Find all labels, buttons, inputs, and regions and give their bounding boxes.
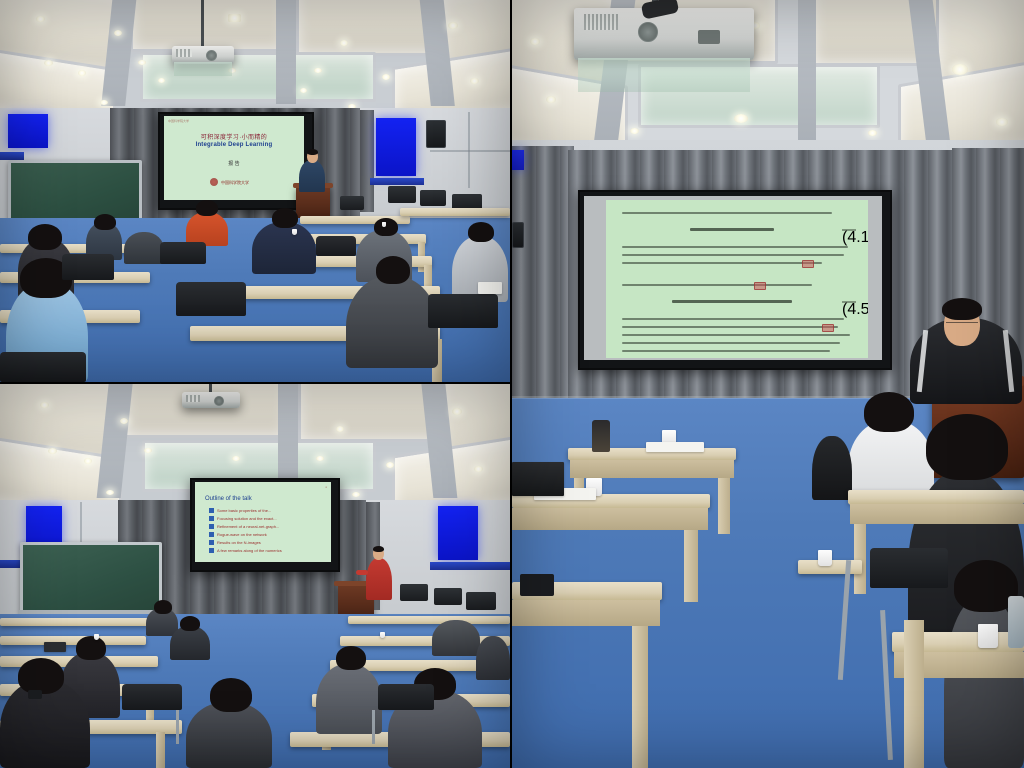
photo-collage: 中国科学院大学 可积深度学习·小而精的 Integrable Deep Lear… bbox=[0, 0, 1024, 768]
downlight bbox=[530, 38, 540, 45]
audience-member bbox=[812, 436, 852, 500]
ceiling-beam bbox=[276, 0, 296, 104]
desk-leg bbox=[684, 530, 698, 602]
wall-accent-strip bbox=[430, 562, 510, 570]
audience-hair bbox=[336, 646, 366, 670]
audience-member bbox=[252, 222, 316, 274]
university-name: 中国科学院大学 bbox=[221, 180, 249, 186]
desk-leg bbox=[156, 732, 165, 768]
water-bottle bbox=[1008, 596, 1024, 648]
slide-text-line bbox=[622, 284, 812, 286]
slide-equation bbox=[690, 228, 774, 231]
downlight bbox=[314, 68, 322, 73]
projector-glow bbox=[578, 58, 750, 92]
audience-hair bbox=[94, 214, 116, 230]
projector-mount-pole bbox=[201, 0, 204, 48]
thermos bbox=[592, 420, 610, 452]
wall-light-panel bbox=[8, 114, 48, 148]
projector-vent bbox=[186, 395, 200, 402]
chair bbox=[0, 352, 86, 382]
projection-slide-outline: ● Outline of the talk Some basic propert… bbox=[195, 482, 331, 562]
wall-accent-strip bbox=[0, 152, 24, 160]
projector-vent bbox=[584, 14, 618, 30]
presenter-arm bbox=[356, 570, 368, 575]
paper-cup bbox=[818, 550, 832, 566]
desk-leg bbox=[904, 620, 924, 768]
downlight bbox=[386, 462, 394, 468]
downlight bbox=[300, 88, 307, 93]
downlight bbox=[78, 70, 86, 76]
speaker bbox=[299, 160, 325, 192]
downlight bbox=[44, 60, 53, 66]
slide-text-line bbox=[622, 334, 850, 336]
audience-member bbox=[476, 636, 510, 680]
slide-corner-mark: ● bbox=[325, 485, 327, 489]
desk-monitor bbox=[400, 584, 428, 601]
desk-leg bbox=[854, 524, 866, 594]
audience-member bbox=[186, 212, 228, 246]
desk bbox=[0, 636, 146, 645]
audience-member bbox=[124, 232, 164, 264]
speaker-hair bbox=[942, 298, 982, 320]
downlight bbox=[158, 78, 165, 83]
desk-leg bbox=[718, 478, 730, 534]
laptop-bag bbox=[512, 462, 564, 496]
audience-hair bbox=[180, 616, 200, 631]
desk-front-panel bbox=[512, 600, 660, 626]
slide-text-line bbox=[622, 246, 848, 248]
desk-monitor bbox=[388, 186, 416, 203]
slide-text-line bbox=[622, 326, 838, 328]
audience-hair bbox=[374, 218, 398, 236]
chair-leg bbox=[176, 710, 179, 744]
slide-title-cn: 可积深度学习·小而精的 bbox=[164, 132, 304, 141]
ceiling-beam bbox=[798, 0, 816, 142]
paper-cup bbox=[380, 632, 385, 638]
chair bbox=[122, 684, 182, 710]
projection-slide-title: 中国科学院大学 可积深度学习·小而精的 Integrable Deep Lear… bbox=[164, 116, 304, 200]
downlight bbox=[630, 128, 639, 134]
paper-sheet bbox=[478, 282, 502, 294]
chair bbox=[176, 282, 246, 316]
desk-monitor bbox=[420, 190, 446, 206]
downlight bbox=[474, 466, 483, 472]
downlight bbox=[316, 456, 324, 461]
projector-lens bbox=[206, 50, 217, 61]
slide-heading: Outline of the talk bbox=[205, 496, 252, 502]
paper-cup bbox=[978, 624, 998, 648]
downlight bbox=[352, 492, 360, 497]
slide-bullet: A few remarks along of the numerics bbox=[209, 548, 282, 553]
downlight bbox=[470, 78, 479, 84]
slide-highlight-box bbox=[754, 282, 766, 290]
laptop bbox=[44, 642, 66, 652]
downlight bbox=[232, 456, 240, 461]
wall-speaker bbox=[426, 120, 446, 148]
downlight bbox=[138, 60, 146, 65]
speaker-hair bbox=[307, 149, 318, 155]
slide-speaker-name: 报 告 bbox=[164, 160, 304, 167]
downlight bbox=[336, 426, 344, 432]
audience-member bbox=[170, 626, 210, 660]
slide-bullet: Refinement of a neural-net-graph... bbox=[209, 524, 279, 529]
wall-light-panel bbox=[376, 118, 416, 176]
chair bbox=[62, 254, 114, 280]
paper-cup bbox=[292, 229, 297, 235]
downlight bbox=[40, 402, 49, 408]
projector-control-panel bbox=[698, 30, 720, 44]
audience-hair bbox=[28, 224, 62, 250]
slide-equation bbox=[672, 300, 792, 303]
slide-text-line bbox=[622, 254, 844, 256]
phone bbox=[520, 574, 554, 596]
downlight bbox=[382, 74, 390, 80]
chair bbox=[428, 294, 498, 328]
blackboard bbox=[20, 542, 162, 616]
collage-panel-bottom-left: ● Outline of the talk Some basic propert… bbox=[0, 384, 510, 768]
slide-text-line bbox=[622, 350, 830, 352]
audience-member bbox=[346, 276, 438, 368]
audience-member bbox=[432, 620, 480, 656]
downlight bbox=[868, 130, 877, 136]
collage-divider-vertical bbox=[510, 0, 512, 768]
downlight bbox=[144, 448, 152, 453]
desk-monitor bbox=[340, 196, 364, 210]
wall-seam bbox=[430, 150, 510, 152]
audience-hair bbox=[210, 678, 252, 712]
downlight bbox=[48, 448, 57, 454]
chair bbox=[378, 684, 434, 710]
desk-front-panel bbox=[850, 504, 1024, 524]
audience-hair bbox=[864, 392, 914, 432]
slide-bullet: Some basic properties of the... bbox=[209, 508, 271, 513]
desk bbox=[400, 208, 510, 216]
speaker-glasses-icon bbox=[946, 322, 978, 327]
downlight bbox=[996, 118, 1008, 126]
slide-highlight-box bbox=[822, 324, 834, 332]
slide-bullet: Results on the N-images bbox=[209, 540, 261, 545]
presenter-hair bbox=[373, 546, 384, 552]
university-logo-icon bbox=[210, 178, 218, 186]
downlight bbox=[340, 40, 348, 46]
chair bbox=[870, 548, 948, 588]
projector-lens bbox=[638, 22, 658, 42]
slide-text-line bbox=[622, 212, 832, 214]
paper-sheet bbox=[646, 442, 704, 452]
downlight bbox=[546, 96, 556, 103]
slide-title-en: Integrable Deep Learning bbox=[164, 142, 304, 148]
paper-cup bbox=[94, 634, 99, 640]
downlight bbox=[100, 100, 108, 105]
audience-hair bbox=[76, 636, 106, 660]
downlight bbox=[114, 30, 122, 36]
chair-leg bbox=[372, 710, 375, 744]
desk bbox=[0, 618, 150, 626]
downlight bbox=[84, 458, 92, 464]
slide-text-line bbox=[622, 342, 840, 344]
audience-hair bbox=[272, 208, 298, 228]
wall-light-panel bbox=[512, 150, 524, 170]
downlight bbox=[448, 22, 458, 29]
desk-front-panel bbox=[570, 460, 734, 478]
slide-equation-tag: (4.1) bbox=[842, 229, 856, 231]
paper-cup bbox=[382, 222, 386, 227]
slide-equation-tag: (4.5) bbox=[842, 301, 856, 303]
audience-hair bbox=[18, 658, 64, 694]
projector-glow bbox=[174, 62, 232, 76]
desk-leg bbox=[632, 626, 648, 768]
desk-front-panel bbox=[512, 508, 708, 530]
slide-bullet: Rogue-wave on the network bbox=[209, 532, 267, 537]
collage-divider-horizontal bbox=[0, 382, 510, 384]
audience-hair bbox=[926, 414, 1008, 480]
projector-vent bbox=[176, 49, 192, 57]
chair bbox=[160, 242, 206, 264]
audience-hair bbox=[196, 200, 218, 216]
wall-speaker bbox=[512, 222, 524, 248]
wall-seam bbox=[468, 112, 470, 188]
audience-hair bbox=[468, 222, 494, 242]
presenter bbox=[366, 558, 392, 600]
projector-lens bbox=[214, 396, 224, 406]
projection-slide-math-lower: (4.5) bbox=[606, 274, 868, 358]
desk-monitor bbox=[466, 592, 496, 610]
slide-text-line bbox=[622, 262, 822, 264]
downlight bbox=[106, 490, 114, 495]
downlight bbox=[120, 418, 128, 424]
downlight bbox=[452, 408, 462, 415]
downlight bbox=[36, 16, 45, 22]
desk bbox=[848, 490, 1024, 504]
slide-text-line bbox=[622, 318, 844, 320]
phone bbox=[28, 690, 42, 699]
collage-panel-right: (4.1) (4.2) (4.3) (4.4) (4.5) bbox=[512, 0, 1024, 768]
collage-panel-top-left: 中国科学院大学 可积深度学习·小而精的 Integrable Deep Lear… bbox=[0, 0, 510, 382]
wall-accent-strip bbox=[370, 178, 424, 185]
downlight bbox=[734, 114, 748, 123]
desk-monitor bbox=[434, 588, 462, 605]
slide-bullet: Focusing solution and the exact... bbox=[209, 516, 277, 521]
ceiling-coffer bbox=[130, 0, 286, 52]
slide-corner-mark: 中国科学院大学 bbox=[168, 119, 189, 123]
chair bbox=[316, 236, 356, 256]
audience-hair bbox=[376, 256, 410, 284]
wall-light-panel bbox=[438, 506, 478, 560]
audience-hair bbox=[154, 600, 172, 614]
slide-highlight-box bbox=[802, 260, 814, 268]
downlight bbox=[952, 64, 968, 75]
downlight bbox=[228, 14, 241, 22]
desk bbox=[348, 616, 510, 624]
